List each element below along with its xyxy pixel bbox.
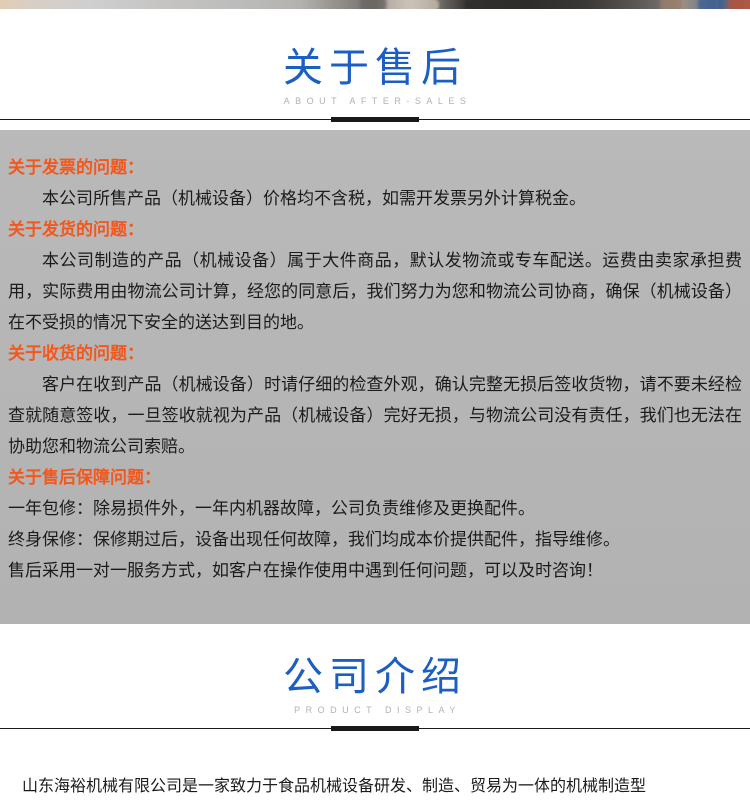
strip-blob [660,0,682,9]
section-paragraph-invoice: 本公司所售产品（机械设备）价格均不含税，如需开发票另外计算税金。 [8,183,742,214]
section-paragraph-shipping: 本公司制造的产品（机械设备）属于大件商品，默认发物流或专车配送。运费由卖家承担费… [8,245,742,338]
section-heading-invoice: 关于发票的问题： [8,152,742,183]
divider-center-nub [331,726,419,731]
page-root: 关于售后 ABOUT AFTER-SALES 关于发票的问题： 本公司所售产品（… [0,0,750,800]
section-paragraph-warranty-3: 售后采用一对一服务方式，如客户在操作使用中遇到任何问题，可以及时咨询！ [8,555,742,586]
section-heading-warranty: 关于售后保障问题： [8,462,742,493]
company-title: 公司介绍 [0,651,750,703]
company-subtitle: PRODUCT DISPLAY [0,703,750,717]
strip-blob [360,0,386,9]
company-divider [0,726,750,732]
after-sales-header: 关于售后 ABOUT AFTER-SALES [0,42,750,123]
strip-blob [465,0,525,9]
after-sales-subtitle: ABOUT AFTER-SALES [0,94,750,108]
strip-blob [728,0,744,9]
section-paragraph-warranty-2: 终身保修：保修期过后，设备出现任何故障，我们均成本价提供配件，指导维修。 [8,524,742,555]
after-sales-panel: 关于发票的问题： 本公司所售产品（机械设备）价格均不含税，如需开发票另外计算税金… [0,130,750,624]
after-sales-title: 关于售后 [0,42,750,94]
strip-blob [698,0,716,9]
after-sales-divider [0,117,750,123]
company-header: 公司介绍 PRODUCT DISPLAY [0,651,750,732]
top-photo-strip [0,0,750,9]
strip-blob [405,0,439,9]
company-intro-paragraph: 山东海裕机械有限公司是一家致力于食品机械设备研发、制造、贸易为一体的机械制造型 [0,772,750,802]
divider-center-nub [331,117,419,122]
section-heading-shipping: 关于发货的问题： [8,214,742,245]
section-heading-receiving: 关于收货的问题： [8,338,742,369]
section-paragraph-warranty-1: 一年包修：除易损件外，一年内机器故障，公司负责维修及更换配件。 [8,493,742,524]
section-paragraph-receiving: 客户在收到产品（机械设备）时请仔细的检查外观，确认完整无损后签收货物，请不要未经… [8,369,742,462]
